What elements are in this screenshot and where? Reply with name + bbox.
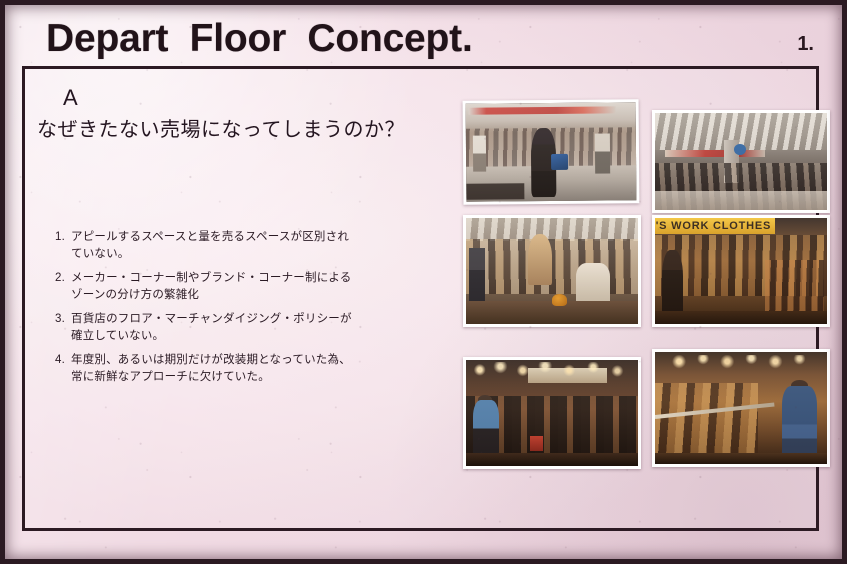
- photo-apparel-display: [463, 215, 641, 327]
- photo-image: [655, 352, 827, 464]
- photo-scene: 'S WORK CLOTHES: [655, 218, 827, 324]
- list-item: 4. 年度別、あるいは期別だけが改装期となっていた為、 常に新鮮なアプローチに欠…: [55, 352, 415, 386]
- photo-scene: [655, 113, 827, 210]
- photo-scene: [655, 352, 827, 464]
- photo-grid: 'S WORK CLOTHES: [439, 97, 809, 509]
- photo-image: [466, 218, 638, 324]
- content-frame: A なぜきたない売場になってしまうのか？ 1. アピールするスペースと量を売るス…: [22, 66, 819, 531]
- section-question: なぜきたない売場になってしまうのか？: [37, 113, 405, 142]
- photo-open-sales-floor: [652, 110, 830, 213]
- list-item-text: 年度別、あるいは期別だけが改装期となっていた為、 常に新鮮なアプローチに欠けてい…: [71, 352, 415, 386]
- photo-amber-aisle-coats: [652, 349, 830, 467]
- photo-image: [466, 360, 638, 466]
- work-clothes-sign: 'S WORK CLOTHES: [655, 218, 775, 234]
- photo-store-aisle-shoppers: [463, 99, 640, 205]
- issue-list: 1. アピールするスペースと量を売るスペースが区別され ていない。 2. メーカ…: [55, 229, 415, 393]
- photo-scene: [466, 218, 638, 324]
- list-item: 3. 百貨店のフロア・マーチャンダイジング・ポリシーが 確立していない。: [55, 311, 415, 345]
- photo-image: 'S WORK CLOTHES: [655, 218, 827, 324]
- slide-board: Depart Floor Concept. 1. A なぜきたない売場になってし…: [0, 0, 847, 564]
- list-item: 2. メーカー・コーナー制やブランド・コーナー制による ゾーンの分け方の繁雑化: [55, 270, 415, 304]
- photo-work-clothes-corner: 'S WORK CLOTHES: [652, 215, 830, 327]
- section-letter: A: [63, 87, 78, 109]
- list-item-text: メーカー・コーナー制やブランド・コーナー制による ゾーンの分け方の繁雑化: [71, 270, 415, 304]
- photo-night-aisle-denim: [463, 357, 641, 469]
- photo-scene: [466, 102, 637, 201]
- list-item-text: 百貨店のフロア・マーチャンダイジング・ポリシーが 確立していない。: [71, 311, 415, 345]
- list-item-number: 3.: [55, 311, 71, 328]
- photo-image: [466, 102, 637, 201]
- list-item: 1. アピールするスペースと量を売るスペースが区別され ていない。: [55, 229, 415, 263]
- page-number: 1.: [797, 33, 814, 56]
- list-item-text: アピールするスペースと量を売るスペースが区別され ていない。: [71, 229, 415, 263]
- photo-image: [655, 113, 827, 210]
- page-title: Depart Floor Concept.: [46, 17, 473, 61]
- list-item-number: 2.: [55, 270, 71, 287]
- work-clothes-sign-text: 'S WORK CLOTHES: [656, 220, 771, 232]
- list-item-number: 4.: [55, 352, 71, 369]
- photo-scene: [466, 360, 638, 466]
- list-item-number: 1.: [55, 229, 71, 246]
